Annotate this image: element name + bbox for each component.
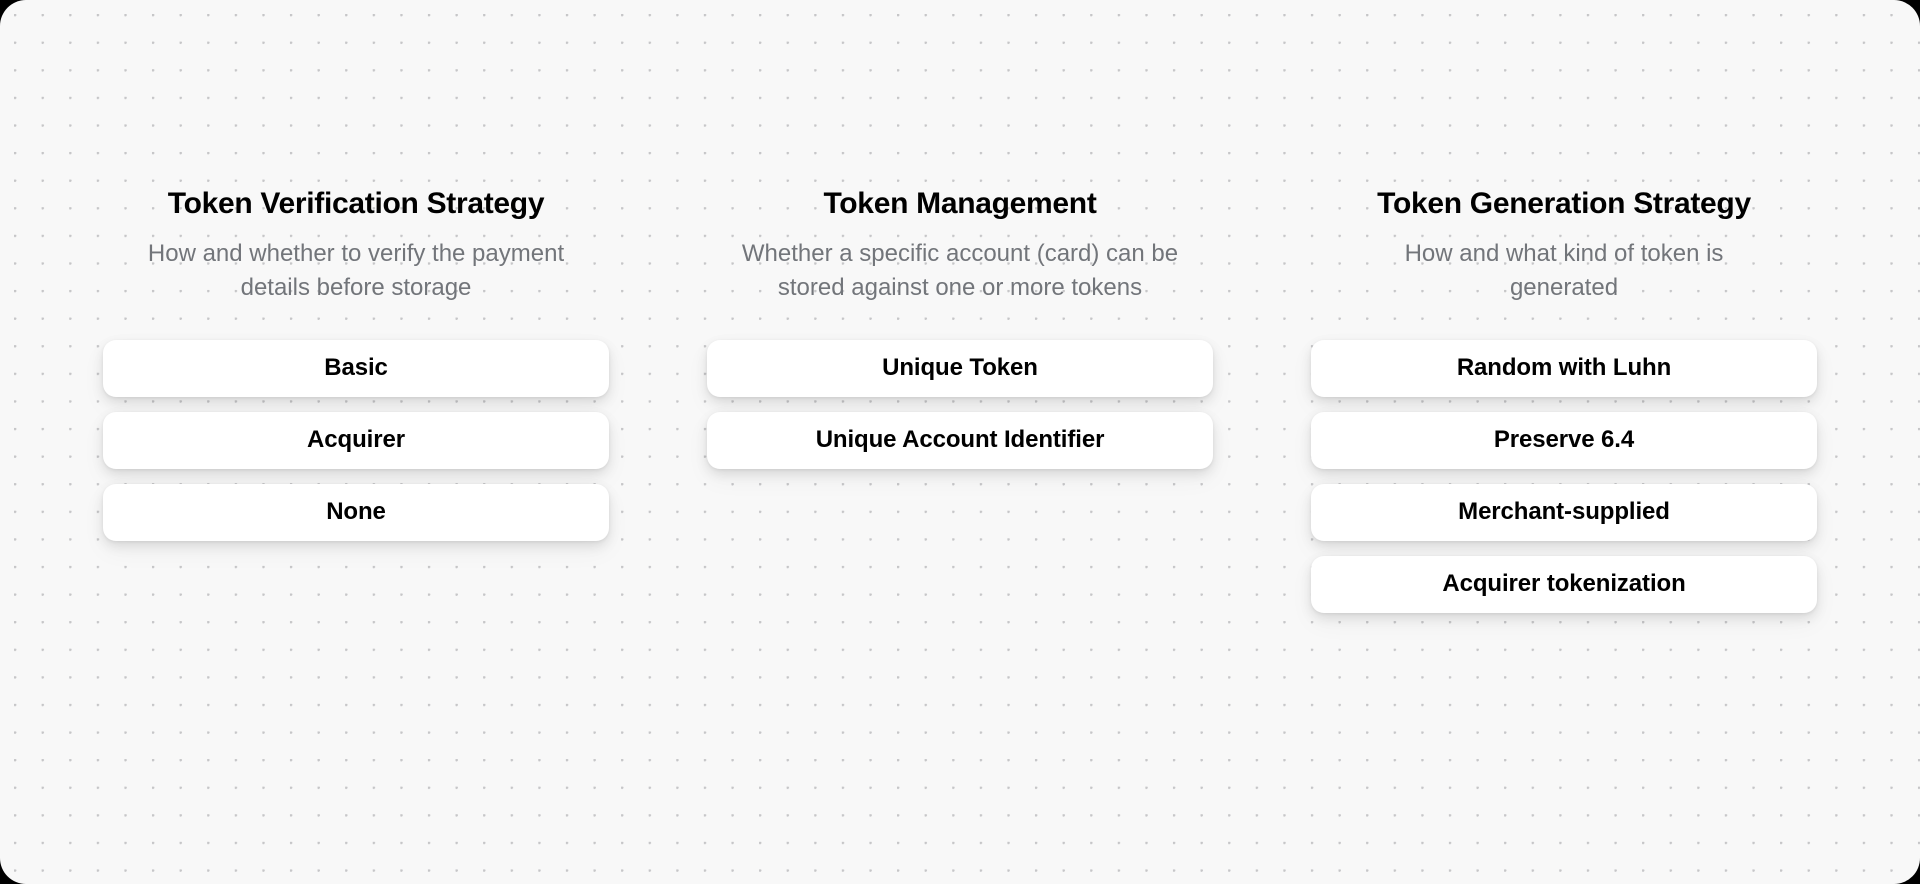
- option-pill[interactable]: Random with Luhn: [1311, 340, 1817, 397]
- option-list: Random with LuhnPreserve 6.4Merchant-sup…: [1308, 340, 1820, 613]
- option-pill-label: Acquirer tokenization: [1442, 572, 1685, 596]
- option-pill-label: Preserve 6.4: [1494, 428, 1634, 452]
- option-pill[interactable]: Merchant-supplied: [1311, 484, 1817, 541]
- option-pill[interactable]: Basic: [103, 340, 609, 397]
- option-pill-label: None: [326, 500, 386, 524]
- option-pill-label: Acquirer: [307, 428, 405, 452]
- option-pill-label: Unique Token: [882, 356, 1038, 380]
- strategy-column: Token ManagementWhether a specific accou…: [704, 186, 1216, 469]
- strategy-column: Token Generation StrategyHow and what ki…: [1308, 186, 1820, 613]
- option-list: BasicAcquirerNone: [100, 340, 612, 541]
- option-pill-label: Random with Luhn: [1457, 356, 1671, 380]
- option-pill[interactable]: Unique Token: [707, 340, 1213, 397]
- column-title: Token Verification Strategy: [100, 186, 612, 221]
- column-description: How and what kind of token is generated: [1308, 237, 1820, 305]
- option-pill[interactable]: Acquirer tokenization: [1311, 556, 1817, 613]
- option-pill-label: Merchant-supplied: [1458, 500, 1670, 524]
- column-description: How and whether to verify the payment de…: [100, 237, 612, 305]
- option-list: Unique TokenUnique Account Identifier: [704, 340, 1216, 469]
- column-description: Whether a specific account (card) can be…: [704, 237, 1216, 305]
- option-pill-label: Unique Account Identifier: [816, 428, 1105, 452]
- option-pill-label: Basic: [324, 356, 388, 380]
- option-pill[interactable]: Preserve 6.4: [1311, 412, 1817, 469]
- strategy-column: Token Verification StrategyHow and wheth…: [100, 186, 612, 541]
- strategy-columns: Token Verification StrategyHow and wheth…: [0, 0, 1920, 884]
- option-pill[interactable]: None: [103, 484, 609, 541]
- column-title: Token Management: [704, 186, 1216, 221]
- column-title: Token Generation Strategy: [1308, 186, 1820, 221]
- diagram-canvas: Token Verification StrategyHow and wheth…: [0, 0, 1920, 884]
- option-pill[interactable]: Unique Account Identifier: [707, 412, 1213, 469]
- option-pill[interactable]: Acquirer: [103, 412, 609, 469]
